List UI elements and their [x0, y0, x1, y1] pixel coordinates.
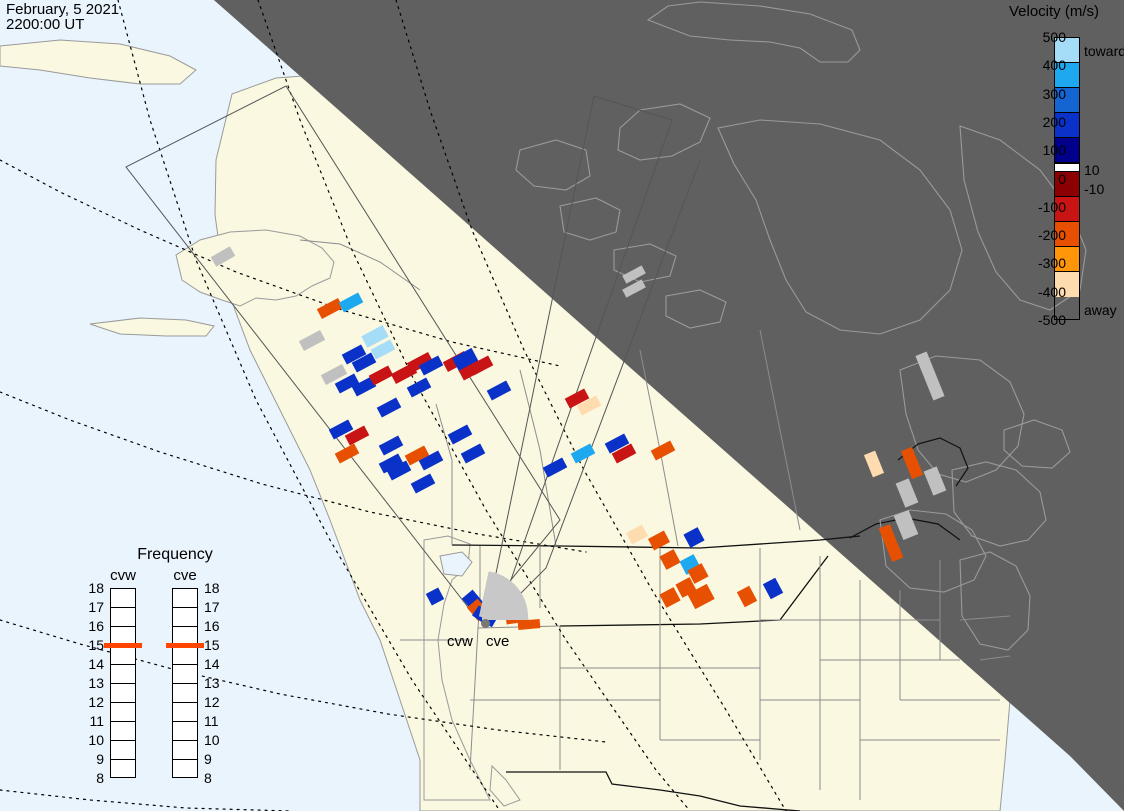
frequency-cell	[111, 665, 135, 684]
colorbar-tick--100: -100	[1012, 200, 1066, 214]
frequency-tick-cve-16: 16	[204, 619, 228, 633]
frequency-cell	[111, 703, 135, 722]
frequency-tick-cvw-17: 17	[80, 600, 104, 614]
groundscatter-cell	[211, 246, 236, 267]
frequency-tick-cvw-10: 10	[80, 733, 104, 747]
velocity-cell	[518, 619, 541, 630]
frequency-cell	[111, 608, 135, 627]
site-label-cvw: cvw	[447, 633, 473, 650]
velocity-cell	[407, 377, 432, 397]
frequency-cell	[173, 665, 197, 684]
frequency-cell	[111, 722, 135, 741]
frequency-title: Frequency	[100, 546, 250, 564]
groundscatter-swath	[698, 440, 743, 476]
frequency-cell	[111, 760, 135, 779]
groundscatter-cell	[896, 478, 919, 507]
frequency-cell	[111, 646, 135, 665]
frequency-tick-cvw-15: 15	[80, 638, 104, 652]
velocity-cell	[379, 435, 404, 455]
groundscatter-swath	[176, 261, 216, 294]
groundscatter-swath	[220, 322, 265, 358]
colorbar-tick-300: 300	[1012, 87, 1066, 101]
groundscatter-cell	[924, 466, 947, 495]
velocity-cell	[626, 525, 648, 545]
velocity-cell	[659, 549, 680, 570]
groundscatter-swath	[578, 468, 629, 509]
timestamp-block: February, 5 2021 2200:00 UT	[6, 2, 119, 32]
groundscatter-cell	[894, 510, 919, 540]
groundscatter-swath	[609, 475, 666, 521]
groundscatter-swath	[504, 371, 568, 420]
frequency-tick-cvw-9: 9	[80, 752, 104, 766]
velocity-cell	[901, 447, 923, 479]
groundscatter-swath	[413, 485, 460, 524]
radar-map-figure: cvw cve February, 5 2021 2200:00 UT Velo…	[0, 0, 1124, 811]
frequency-tick-cve-12: 12	[204, 695, 228, 709]
groundscatter-swath	[551, 481, 600, 521]
velocity-cell	[864, 451, 884, 478]
frequency-cell	[173, 741, 197, 760]
groundscatter-swath	[385, 489, 432, 528]
time-text: 2200:00 UT	[6, 17, 119, 32]
groundscatter-swath	[283, 403, 330, 442]
frequency-cell	[173, 589, 197, 608]
groundscatter-swath	[602, 394, 653, 435]
frequency-column-label-cve: cve	[160, 567, 210, 584]
frequency-tick-cvw-8: 8	[80, 771, 104, 785]
velocity-cell	[461, 443, 486, 463]
colorbar-negative-threshold: -10	[1084, 182, 1104, 196]
frequency-tick-cvw-16: 16	[80, 619, 104, 633]
velocity-cell	[571, 443, 596, 463]
frequency-marker-cve[interactable]	[166, 643, 204, 648]
frequency-cell	[173, 722, 197, 741]
colorbar-toward-label: toward	[1084, 44, 1124, 58]
frequency-marker-cvw[interactable]	[104, 643, 142, 648]
groundscatter-swath	[688, 490, 739, 531]
frequency-tick-cvw-11: 11	[80, 714, 104, 728]
frequency-tick-cve-8: 8	[204, 771, 228, 785]
colorbar-tick-400: 400	[1012, 58, 1066, 72]
frequency-tick-cvw-12: 12	[80, 695, 104, 709]
frequency-cell	[173, 760, 197, 779]
frequency-cell	[173, 646, 197, 665]
velocity-cell	[737, 586, 757, 608]
colorbar-away-label: away	[1084, 303, 1117, 317]
frequency-tick-cve-18: 18	[204, 581, 228, 595]
frequency-tick-cve-9: 9	[204, 752, 228, 766]
frequency-tick-cvw-13: 13	[80, 676, 104, 690]
fov-beam	[482, 614, 528, 620]
frequency-tick-cve-10: 10	[204, 733, 228, 747]
velocity-cell	[339, 292, 364, 312]
frequency-tick-cve-15: 15	[204, 638, 228, 652]
velocity-cell	[377, 397, 402, 417]
groundscatter-swath	[664, 476, 715, 517]
groundscatter-swath	[198, 290, 241, 325]
groundscatter-swath	[265, 377, 312, 416]
frequency-tick-cve-13: 13	[204, 676, 228, 690]
groundscatter-swath	[714, 558, 759, 594]
velocity-cell	[651, 440, 676, 460]
colorbar-tick-500: 500	[1012, 30, 1066, 44]
velocity-cell	[369, 365, 394, 385]
frequency-tick-cve-17: 17	[204, 600, 228, 614]
velocity-cell	[426, 587, 444, 605]
groundscatter-cell	[915, 351, 944, 400]
groundscatter-swath	[637, 487, 694, 533]
colorbar-tick--300: -300	[1012, 256, 1066, 270]
colorbar-title: Velocity (m/s)	[984, 3, 1124, 20]
velocity-cell	[543, 457, 568, 477]
site-label-cve: cve	[486, 633, 509, 650]
frequency-tick-cvw-14: 14	[80, 657, 104, 671]
groundscatter-swath	[676, 420, 727, 461]
velocity-cell	[335, 443, 360, 463]
velocity-cell	[487, 380, 512, 400]
groundscatter-swath	[353, 481, 400, 520]
frequency-bar-cve[interactable]	[172, 588, 198, 778]
frequency-column-label-cvw: cvw	[98, 567, 148, 584]
groundscatter-swath	[325, 457, 374, 497]
groundscatter-swath	[467, 455, 516, 495]
frequency-bar-cvw[interactable]	[110, 588, 136, 778]
groundscatter-swath	[244, 348, 289, 384]
colorbar-tick-100: 100	[1012, 143, 1066, 157]
groundscatter-swath	[441, 473, 490, 513]
velocity-cell	[763, 578, 783, 600]
groundscatter-cell	[299, 330, 325, 351]
frequency-cell	[173, 703, 197, 722]
velocity-cell	[448, 424, 473, 444]
frequency-tick-cvw-18: 18	[80, 581, 104, 595]
frequency-cell	[111, 589, 135, 608]
groundscatter-swath	[497, 435, 546, 475]
groundscatter-swath	[498, 404, 552, 447]
groundscatter-swath	[588, 456, 642, 499]
date-text: February, 5 2021	[6, 2, 119, 17]
groundscatter-swath	[274, 342, 324, 381]
colorbar-positive-threshold: 10	[1084, 163, 1100, 177]
colorbar-tick--500: -500	[1012, 313, 1066, 327]
frequency-cell	[173, 684, 197, 703]
colorbar-tick-0: 0	[1012, 172, 1066, 186]
frequency-panel: Frequency cvw18171615141312111098cve1817…	[90, 546, 330, 791]
frequency-tick-cve-14: 14	[204, 657, 228, 671]
colorbar-tick--400: -400	[1012, 285, 1066, 299]
velocity-cell	[411, 473, 436, 493]
frequency-tick-cve-11: 11	[204, 714, 228, 728]
velocity-cell	[683, 527, 704, 548]
velocity-cell	[648, 531, 670, 551]
colorbar-tick--200: -200	[1012, 228, 1066, 242]
radar-site-dot	[481, 619, 490, 628]
frequency-cell	[111, 684, 135, 703]
colorbar-tick-200: 200	[1012, 115, 1066, 129]
frequency-cell	[173, 608, 197, 627]
velocity-colorbar-panel: Velocity (m/s) 5004003002001000-100-200-…	[984, 0, 1124, 340]
frequency-cell	[111, 741, 135, 760]
